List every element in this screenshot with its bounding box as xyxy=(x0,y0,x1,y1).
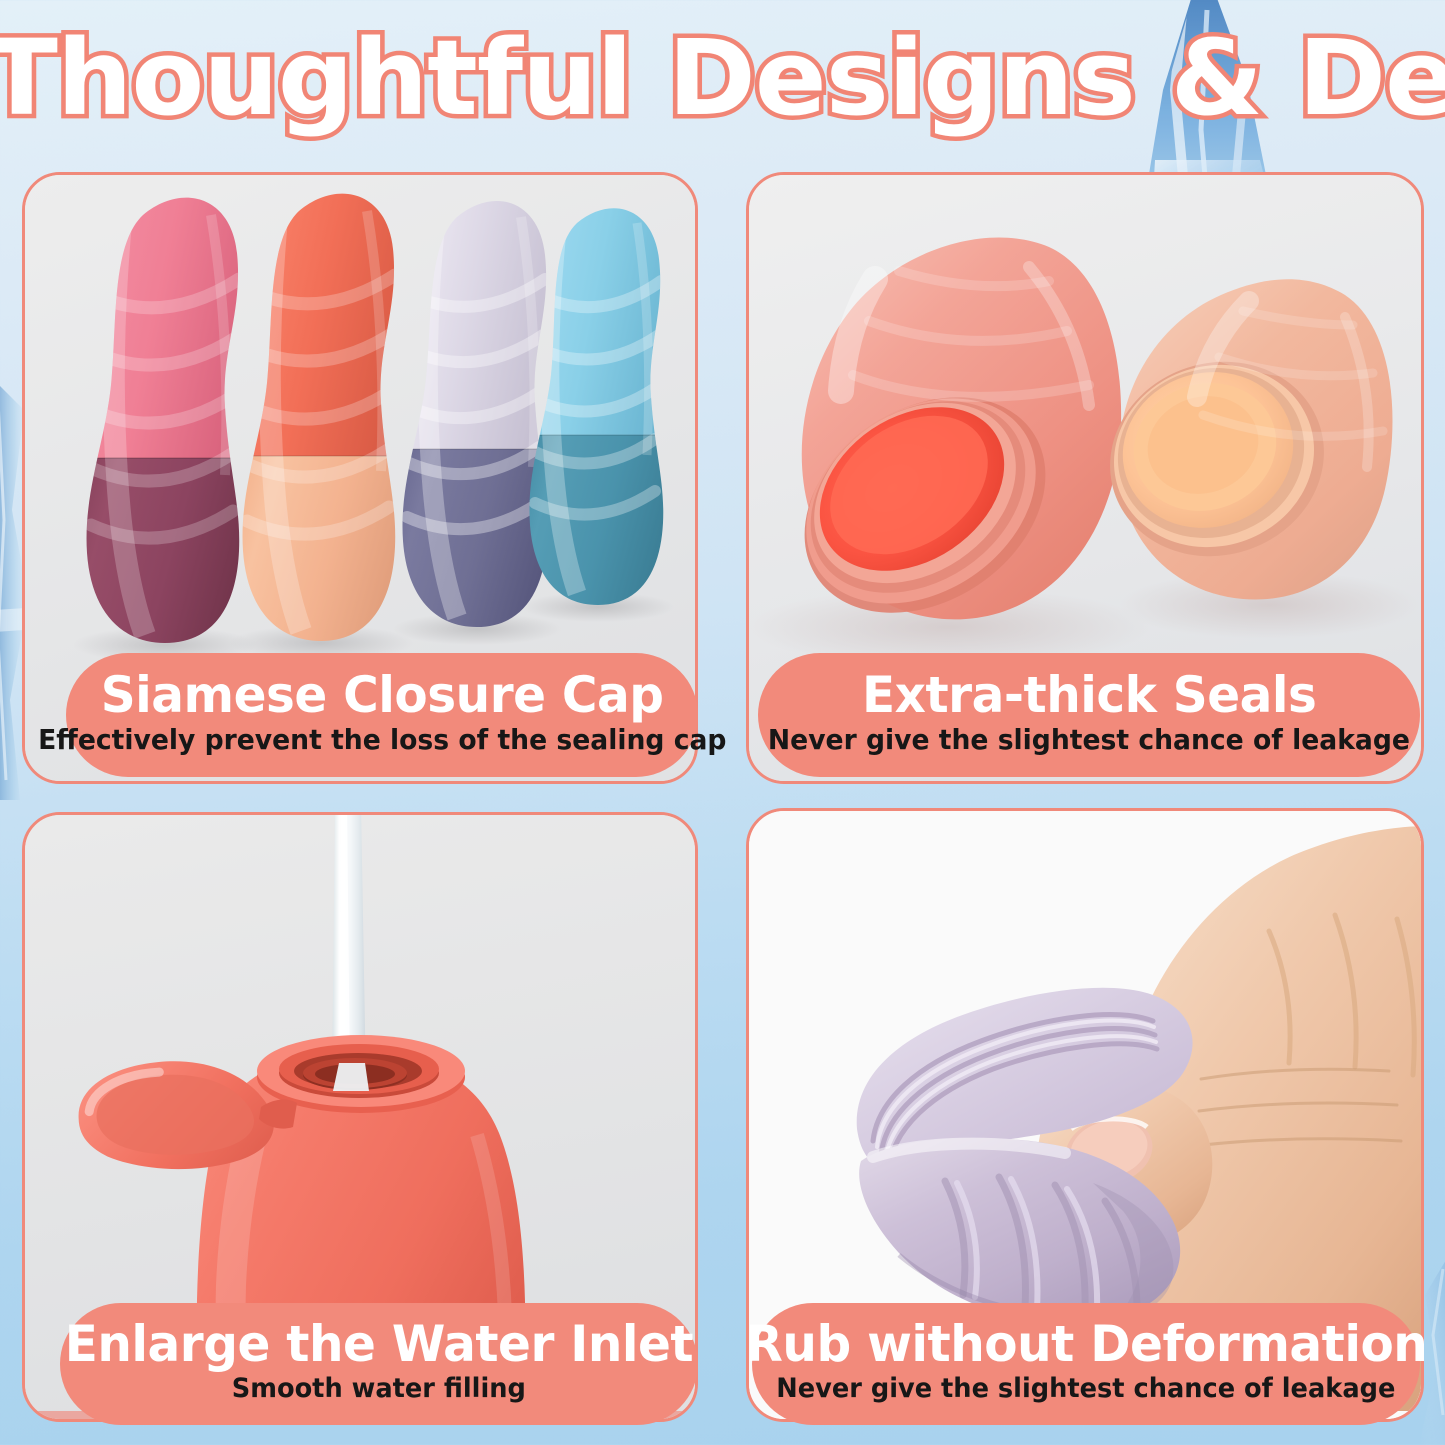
label-headline: Extra-thick Seals xyxy=(862,669,1316,722)
label-headline: Enlarge the Water Inlet xyxy=(65,1318,693,1371)
label-subtitle: Never give the slightest chance of leaka… xyxy=(776,1374,1395,1404)
label-headline: Siamese Closure Cap xyxy=(101,669,664,722)
label-rub-without-deformation: Rub without Deformation Never give the s… xyxy=(752,1303,1420,1425)
label-subtitle: Smooth water filling xyxy=(232,1374,526,1404)
label-subtitle: Never give the slightest chance of leaka… xyxy=(768,725,1410,756)
label-subtitle: Effectively prevent the loss of the seal… xyxy=(38,725,726,756)
label-siamese-closure-cap: Siamese Closure Cap Effectively prevent … xyxy=(66,653,698,777)
label-extra-thick-seals: Extra-thick Seals Never give the slighte… xyxy=(758,653,1420,777)
label-headline: Rub without Deformation xyxy=(745,1318,1427,1371)
label-enlarge-the-water-inlet: Enlarge the Water Inlet Smooth water fil… xyxy=(60,1303,698,1425)
